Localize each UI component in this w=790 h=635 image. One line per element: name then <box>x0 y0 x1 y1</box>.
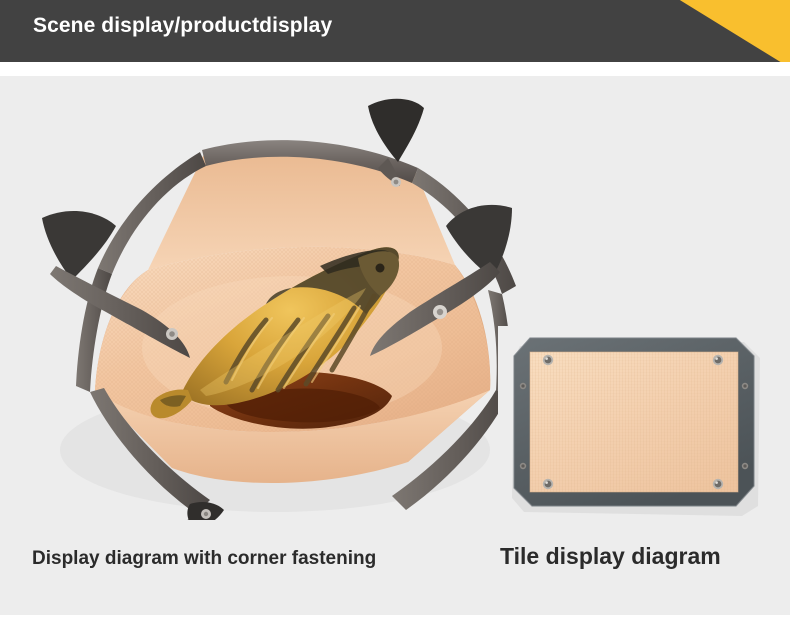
scene-photo[interactable] <box>20 90 530 520</box>
snap-stud <box>543 355 553 365</box>
snap-stud <box>543 479 553 489</box>
snap-stud <box>520 463 526 469</box>
snap-stud <box>520 383 526 389</box>
tile-photo[interactable] <box>498 326 778 522</box>
snap-stud <box>713 479 723 489</box>
snap-stud <box>742 463 748 469</box>
scene-photo-caption: Display diagram with corner fastening <box>32 548 376 570</box>
flat-mat-tile-photo <box>498 326 778 522</box>
snap-stud <box>713 355 723 365</box>
tray-with-grilled-fish-photo <box>20 90 530 520</box>
snap-stud <box>742 383 748 389</box>
header-accent-wedge <box>600 0 790 62</box>
tile-photo-caption: Tile display diagram <box>500 543 721 570</box>
product-display-page: Scene display/productdisplay <box>0 0 790 635</box>
page-title: Scene display/productdisplay <box>33 14 332 38</box>
header-banner: Scene display/productdisplay <box>0 0 790 62</box>
